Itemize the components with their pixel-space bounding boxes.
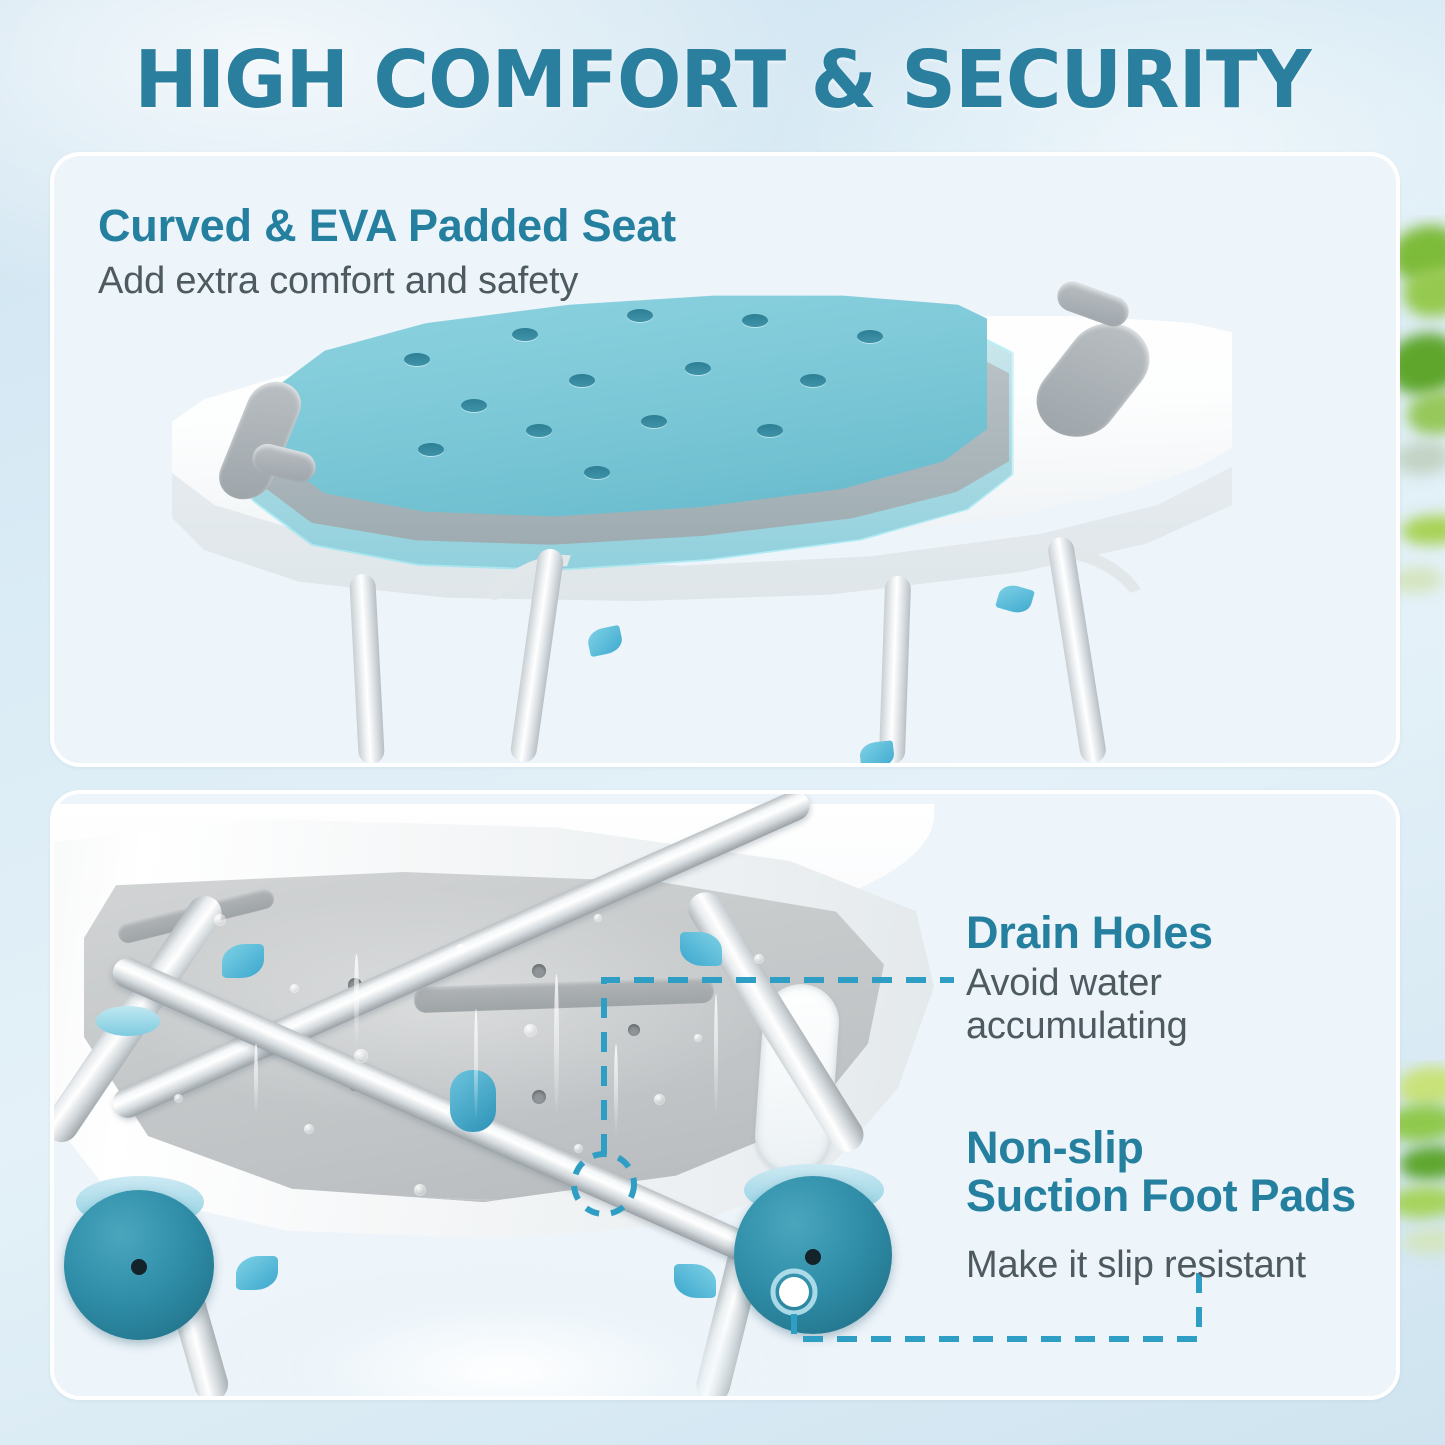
underside-rib-top [414,977,715,1013]
shower-seat-underside-image [54,794,1396,1396]
frame-clip-lower-right [674,1264,716,1298]
suction-pad-center-hole-right [805,1249,821,1265]
suction-pad-center-hole [131,1259,147,1275]
panel-heading: Curved & EVA Padded Seat [98,200,676,252]
frame-clip-lower-left [236,1256,278,1290]
drain-holes-subtext: Avoid water accumulating [966,962,1188,1047]
seat-leg-front-left [349,573,385,764]
page-title: HIGH COMFORT & SECURITY [29,34,1416,126]
panel-subtext: Add extra comfort and safety [98,260,578,303]
seat-leg-front-right [879,576,912,765]
suction-foot-pads-subtext: Make it slip resistant [966,1244,1306,1287]
frame-clip-upper-right [680,932,722,966]
cross-brace-center-hub [450,1070,496,1132]
suction-foot-pad-right [734,1176,892,1334]
leg-collar-ring [96,1006,160,1036]
suction-foot-pad-left [64,1190,214,1340]
underside-features-panel: Drain Holes Avoid water accumulating Non… [50,790,1400,1400]
drain-holes-heading: Drain Holes [966,909,1213,957]
suction-foot-pads-heading: Non-slip Suction Foot Pads [966,1124,1356,1219]
height-adjust-clip-c [859,740,896,767]
curved-eva-padded-seat-panel: Curved & EVA Padded Seat Add extra comfo… [50,152,1400,767]
